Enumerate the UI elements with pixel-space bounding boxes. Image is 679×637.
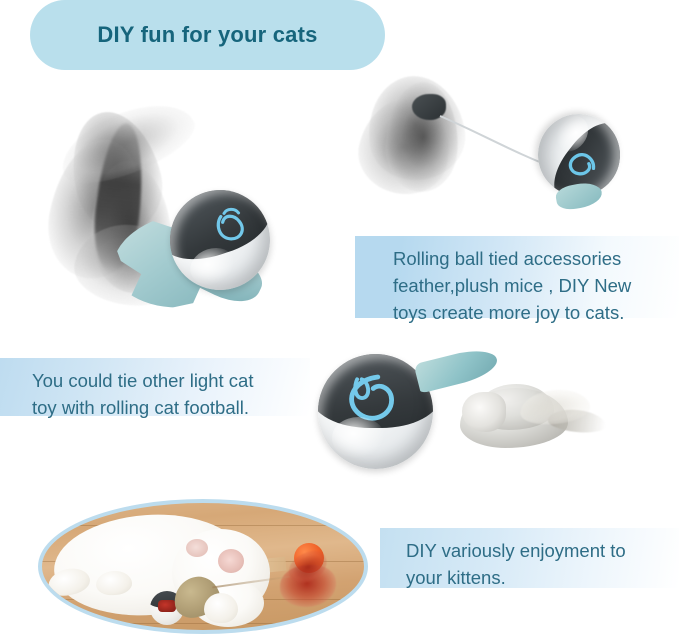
cat-ear-inner <box>186 539 208 557</box>
product-image-ball-plush-mouse <box>312 346 604 476</box>
product-infographic-page: DIY fun for your cats <box>0 0 679 637</box>
caption-rolling-ball-accessories: Rolling ball tied accessories feather,pl… <box>355 236 679 318</box>
page-title: DIY fun for your cats <box>97 22 317 48</box>
cat-ear <box>218 549 244 573</box>
caption-diy-enjoyment: DIY variously enjoyment to your kittens. <box>380 528 679 588</box>
cat-playing-photo <box>38 499 368 634</box>
header-banner: DIY fun for your cats <box>30 0 385 70</box>
product-image-ball-feather-tail <box>45 105 310 330</box>
cat-paw-back <box>204 593 238 623</box>
caption-tie-other-light-cat-toy: You could tie other light cat toy with r… <box>0 358 310 416</box>
plush-mouse-icon <box>460 384 604 456</box>
product-image-ball-feather-wand <box>360 72 635 202</box>
